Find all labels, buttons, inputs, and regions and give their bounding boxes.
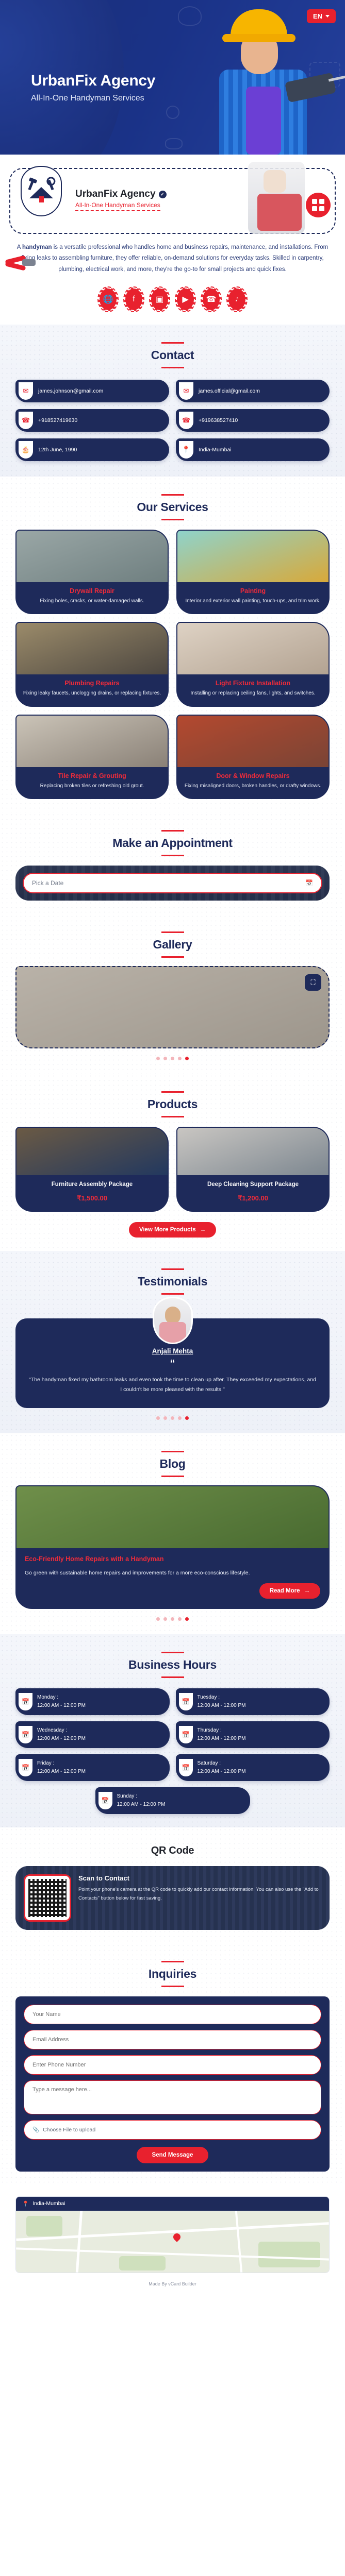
hero-banner: UrbanFix Agency All-In-One Handyman Serv… — [0, 0, 345, 155]
contact-item-phone-1[interactable]: ☎ +918527419630 — [15, 409, 169, 432]
carousel-dot-active[interactable] — [185, 1416, 189, 1420]
appointment-heading: Make an Appointment — [0, 830, 345, 856]
hours-day: Wednesday : — [37, 1727, 67, 1733]
arrow-right-icon: → — [304, 1588, 310, 1594]
birthday-cake-icon: 🎂 — [19, 441, 33, 459]
map-label-bar: 📍 India-Mumbai — [16, 2197, 329, 2211]
section-title: Business Hours — [0, 1658, 345, 1672]
product-title: Deep Cleaning Support Package — [182, 1180, 324, 1189]
qr-code-image[interactable] — [24, 1874, 71, 1922]
hours-row: 📅 Friday :12:00 AM - 12:00 PM — [15, 1754, 170, 1781]
map-location-label: India-Mumbai — [32, 2200, 65, 2207]
contact-list: ✉ james.johnson@gmail.com ✉ james.offici… — [0, 368, 345, 463]
vcard-page: UrbanFix Agency All-In-One Handyman Serv… — [0, 0, 345, 2296]
service-desc: Fixing holes, cracks, or water-damaged w… — [22, 597, 162, 605]
footer-credit: Made By vCard Builder — [0, 2273, 345, 2296]
blog-carousel-dots — [0, 1617, 345, 1621]
service-image — [17, 531, 168, 582]
qr-card: Scan to Contact Point your phone's camer… — [15, 1866, 330, 1930]
phone-field[interactable] — [24, 2055, 321, 2075]
section-title: Gallery — [0, 938, 345, 952]
appointment-card: Pick a Date 📅 — [15, 866, 330, 901]
hero-text-block: UrbanFix Agency All-In-One Handyman Serv… — [31, 72, 155, 103]
hours-row-sunday: 📅 Sunday :12:00 AM - 12:00 PM — [95, 1787, 250, 1814]
section-title: Products — [0, 1097, 345, 1111]
inquiry-form: 📎 Choose File to upload Send Message — [15, 1996, 330, 2172]
business-hours-list: 📅 Monday :12:00 AM - 12:00 PM 📅 Tuesday … — [0, 1678, 345, 1781]
hours-day: Friday : — [37, 1760, 54, 1766]
qr-heading: QR Code — [0, 1845, 345, 1857]
product-card[interactable]: Deep Cleaning Support Package ₹1,200.00 — [176, 1127, 330, 1212]
tiktok-icon[interactable]: ♪ — [227, 287, 247, 311]
phone-icon: ☎ — [179, 412, 193, 429]
service-desc: Fixing misaligned doors, broken handles,… — [183, 782, 323, 790]
products-section: Products Furniture Assembly Package ₹1,5… — [0, 1074, 345, 1251]
service-image — [17, 623, 168, 674]
profile-name: UrbanFix Agency — [75, 189, 156, 200]
carousel-dot[interactable] — [171, 1617, 174, 1621]
about-text: A handyman is a versatile professional w… — [15, 242, 330, 275]
service-image — [177, 716, 328, 767]
email-icon: ✉ — [179, 382, 193, 400]
whatsapp-icon[interactable]: ☎ — [202, 287, 221, 311]
service-card[interactable]: Tile Repair & Grouting Replacing broken … — [15, 715, 169, 800]
phone-icon: ☎ — [19, 412, 33, 429]
hours-time: 12:00 AM - 12:00 PM — [37, 1736, 86, 1741]
hours-time: 12:00 AM - 12:00 PM — [198, 1736, 246, 1741]
blog-post-desc: Go green with sustainable home repairs a… — [25, 1569, 320, 1578]
phone-input[interactable] — [32, 2062, 313, 2068]
map-section: 📍 India-Mumbai — [15, 2196, 330, 2273]
gear-icon — [166, 106, 179, 119]
profile-section: UrbanFix Agency ✓ All-In-One Handyman Se… — [0, 155, 345, 325]
contact-item-email-1[interactable]: ✉ james.johnson@gmail.com — [15, 380, 169, 402]
product-price: ₹1,500.00 — [21, 1194, 163, 1202]
facebook-icon[interactable]: f — [124, 287, 143, 311]
testimonial-carousel-dots — [0, 1416, 345, 1420]
carousel-dot-active[interactable] — [185, 1617, 189, 1621]
carousel-dot[interactable] — [171, 1057, 174, 1060]
profile-card: UrbanFix Agency ✓ All-In-One Handyman Se… — [9, 168, 336, 234]
profile-tagline: All-In-One Handyman Services — [75, 201, 160, 211]
contact-value: +919638527410 — [199, 417, 238, 423]
carousel-dot-active[interactable] — [185, 1057, 189, 1060]
testimonial-author: Anjali Mehta — [28, 1347, 317, 1355]
calendar-clock-icon: 📅 — [19, 1693, 32, 1710]
hours-day: Monday : — [37, 1694, 58, 1700]
carousel-dot[interactable] — [156, 1057, 160, 1060]
inquiries-section: Inquiries 📎 Choose File to upload Send M… — [0, 1943, 345, 2185]
appointment-section: Make an Appointment Pick a Date 📅 — [0, 812, 345, 914]
product-card[interactable]: Furniture Assembly Package ₹1,500.00 — [15, 1127, 169, 1212]
file-upload-label: Choose File to upload — [43, 2127, 95, 2133]
expand-icon[interactable]: ⛶ — [305, 974, 321, 991]
calendar-clock-icon: 📅 — [98, 1792, 112, 1809]
youtube-icon[interactable]: ▶ — [176, 287, 195, 311]
gallery-heading: Gallery — [0, 931, 345, 958]
hours-day: Sunday : — [117, 1793, 137, 1799]
service-desc: Interior and exterior wall painting, tou… — [183, 597, 323, 605]
name-field[interactable] — [24, 2005, 321, 2024]
arrow-right-icon: → — [200, 1227, 206, 1233]
service-image — [17, 716, 168, 767]
company-logo — [21, 166, 62, 216]
social-links: 🌐 f ▣ ▶ ☎ ♪ — [0, 287, 345, 311]
hours-time: 12:00 AM - 12:00 PM — [37, 1769, 86, 1774]
section-title: Make an Appointment — [0, 836, 345, 850]
testimonial-text: "The handyman fixed my bathroom leaks an… — [28, 1375, 317, 1395]
calendar-clock-icon: 📅 — [179, 1726, 193, 1743]
contact-value: +918527419630 — [38, 417, 77, 423]
gallery-carousel-dots — [0, 1057, 345, 1060]
hours-time: 12:00 AM - 12:00 PM — [37, 1703, 86, 1708]
carousel-dot[interactable] — [163, 1416, 167, 1420]
hours-row: 📅 Wednesday :12:00 AM - 12:00 PM — [15, 1721, 170, 1748]
hours-row: 📅 Tuesday :12:00 AM - 12:00 PM — [176, 1688, 330, 1715]
hero-subtitle: All-In-One Handyman Services — [31, 94, 155, 103]
paperclip-icon: 📎 — [32, 2126, 39, 2133]
email-field[interactable] — [24, 2030, 321, 2049]
house-door-icon — [39, 196, 44, 202]
gallery-image[interactable]: ⛶ — [15, 966, 330, 1048]
email-input[interactable] — [32, 2037, 313, 2043]
qr-title: Scan to Contact — [78, 1874, 321, 1882]
hero-title: UrbanFix Agency — [31, 72, 155, 90]
hours-day: Tuesday : — [198, 1694, 220, 1700]
section-title: Testimonials — [0, 1275, 345, 1289]
read-more-label: Read More — [270, 1588, 300, 1594]
service-card[interactable]: Painting Interior and exterior wall pain… — [176, 530, 330, 615]
carousel-dot[interactable] — [178, 1416, 182, 1420]
carousel-dot[interactable] — [178, 1057, 182, 1060]
service-desc: Installing or replacing ceiling fans, li… — [183, 689, 323, 698]
verified-badge-icon: ✓ — [159, 191, 167, 198]
service-title: Drywall Repair — [22, 587, 162, 595]
service-image — [177, 623, 328, 674]
language-selector[interactable]: EN — [307, 9, 336, 23]
qr-desc: Point your phone's camera at the QR code… — [78, 1885, 321, 1903]
products-list: Furniture Assembly Package ₹1,500.00 Dee… — [0, 1117, 345, 1212]
hero-worker-photo — [190, 0, 345, 155]
date-placeholder: Pick a Date — [32, 879, 63, 887]
location-pin-icon: 📍 — [22, 2200, 29, 2207]
product-title: Furniture Assembly Package — [21, 1180, 163, 1189]
service-title: Door & Window Repairs — [183, 772, 323, 779]
service-card[interactable]: Plumbing Repairs Fixing leaky faucets, u… — [15, 622, 169, 707]
pliers-icon — [5, 256, 38, 271]
hours-time: 12:00 AM - 12:00 PM — [198, 1769, 246, 1774]
hours-time: 12:00 AM - 12:00 PM — [198, 1703, 246, 1708]
profile-identity: UrbanFix Agency ✓ All-In-One Handyman Se… — [75, 189, 167, 211]
blog-image — [17, 1486, 328, 1548]
carousel-dot[interactable] — [156, 1416, 160, 1420]
section-title: Inquiries — [0, 1967, 345, 1981]
quote-icon: “ — [28, 1358, 317, 1370]
blog-section: Blog Eco-Friendly Home Repairs with a Ha… — [0, 1433, 345, 1634]
contact-value: james.official@gmail.com — [199, 388, 260, 394]
contact-item-phone-2[interactable]: ☎ +919638527410 — [176, 409, 330, 432]
instagram-icon[interactable]: ▣ — [150, 287, 169, 311]
map-pin-icon — [172, 2232, 182, 2242]
service-card[interactable]: Light Fixture Installation Installing or… — [176, 622, 330, 707]
read-more-button[interactable]: Read More → — [259, 1583, 320, 1599]
chevron-down-icon — [325, 15, 330, 18]
service-title: Tile Repair & Grouting — [22, 772, 162, 779]
calendar-clock-icon: 📅 — [179, 1693, 193, 1710]
service-image — [177, 531, 328, 582]
contact-value: james.johnson@gmail.com — [38, 388, 103, 394]
carousel-dot[interactable] — [163, 1617, 167, 1621]
view-more-products-button[interactable]: View More Products → — [129, 1222, 216, 1238]
services-section: Our Services Drywall Repair Fixing holes… — [0, 477, 345, 813]
gear-icon — [165, 138, 183, 149]
testimonials-section: Testimonials Anjali Mehta “ "The handyma… — [0, 1251, 345, 1433]
name-input[interactable] — [32, 2011, 313, 2018]
gallery-section: Gallery ⛶ — [0, 914, 345, 1074]
section-title: Blog — [0, 1457, 345, 1471]
contact-item-birthday[interactable]: 🎂 12th June, 1990 — [15, 438, 169, 461]
email-icon: ✉ — [19, 382, 33, 400]
contact-item-location[interactable]: 📍 India-Mumbai — [176, 438, 330, 461]
service-title: Painting — [183, 587, 323, 595]
date-picker-input[interactable]: Pick a Date 📅 — [23, 873, 322, 893]
qr-code-button[interactable] — [306, 193, 331, 217]
services-heading: Our Services — [0, 494, 345, 520]
send-message-button[interactable]: Send Message — [137, 2147, 209, 2163]
hours-row: 📅 Saturday :12:00 AM - 12:00 PM — [176, 1754, 330, 1781]
hours-row: 📅 Monday :12:00 AM - 12:00 PM — [15, 1688, 170, 1715]
blog-post-title: Eco-Friendly Home Repairs with a Handyma… — [25, 1555, 320, 1563]
file-upload-row[interactable]: 📎 Choose File to upload — [24, 2120, 321, 2140]
service-desc: Fixing leaky faucets, unclogging drains,… — [22, 689, 162, 698]
hours-row: 📅 Thursday :12:00 AM - 12:00 PM — [176, 1721, 330, 1748]
carousel-dot[interactable] — [178, 1617, 182, 1621]
calendar-icon[interactable]: 📅 — [305, 879, 313, 887]
service-card[interactable]: Door & Window Repairs Fixing misaligned … — [176, 715, 330, 800]
contact-heading: Contact — [0, 342, 345, 368]
hours-day: Thursday : — [198, 1727, 222, 1733]
toolbag-photo — [248, 162, 305, 234]
blog-card[interactable]: Eco-Friendly Home Repairs with a Handyma… — [15, 1485, 330, 1609]
view-more-label: View More Products — [139, 1227, 196, 1233]
avatar — [153, 1297, 193, 1344]
testimonials-heading: Testimonials — [0, 1268, 345, 1295]
message-field[interactable] — [24, 2080, 321, 2114]
qr-section: QR Code Scan to Contact Point your phone… — [0, 1827, 345, 1943]
service-title: Plumbing Repairs — [22, 680, 162, 687]
business-hours-section: Business Hours 📅 Monday :12:00 AM - 12:0… — [0, 1634, 345, 1827]
contact-value: India-Mumbai — [199, 447, 232, 453]
contact-section: Contact ✉ james.johnson@gmail.com ✉ jame… — [0, 325, 345, 477]
inquiries-heading: Inquiries — [0, 1961, 345, 1987]
calendar-clock-icon: 📅 — [19, 1759, 32, 1776]
contact-value: 12th June, 1990 — [38, 447, 77, 453]
product-image — [17, 1128, 168, 1175]
service-card[interactable]: Drywall Repair Fixing holes, cracks, or … — [15, 530, 169, 615]
message-input[interactable] — [32, 2087, 313, 2109]
section-title: QR Code — [0, 1845, 345, 1857]
product-price: ₹1,200.00 — [182, 1194, 324, 1202]
carousel-dot[interactable] — [156, 1617, 160, 1621]
calendar-clock-icon: 📅 — [179, 1759, 193, 1776]
website-icon[interactable]: 🌐 — [98, 287, 118, 311]
service-title: Light Fixture Installation — [183, 680, 323, 687]
map-canvas[interactable] — [16, 2211, 329, 2273]
language-label: EN — [313, 12, 322, 20]
blog-heading: Blog — [0, 1451, 345, 1477]
services-list: Drywall Repair Fixing holes, cracks, or … — [0, 520, 345, 800]
service-desc: Replacing broken tiles or refreshing old… — [22, 782, 162, 790]
hours-time: 12:00 AM - 12:00 PM — [117, 1802, 166, 1807]
hours-day: Saturday : — [198, 1760, 221, 1766]
section-title: Contact — [0, 348, 345, 362]
location-pin-icon: 📍 — [179, 441, 193, 459]
business-hours-heading: Business Hours — [0, 1652, 345, 1678]
products-heading: Products — [0, 1091, 345, 1117]
section-title: Our Services — [0, 500, 345, 514]
contact-item-email-2[interactable]: ✉ james.official@gmail.com — [176, 380, 330, 402]
product-image — [177, 1128, 328, 1175]
calendar-clock-icon: 📅 — [19, 1726, 32, 1743]
carousel-dot[interactable] — [163, 1057, 167, 1060]
carousel-dot[interactable] — [171, 1416, 174, 1420]
